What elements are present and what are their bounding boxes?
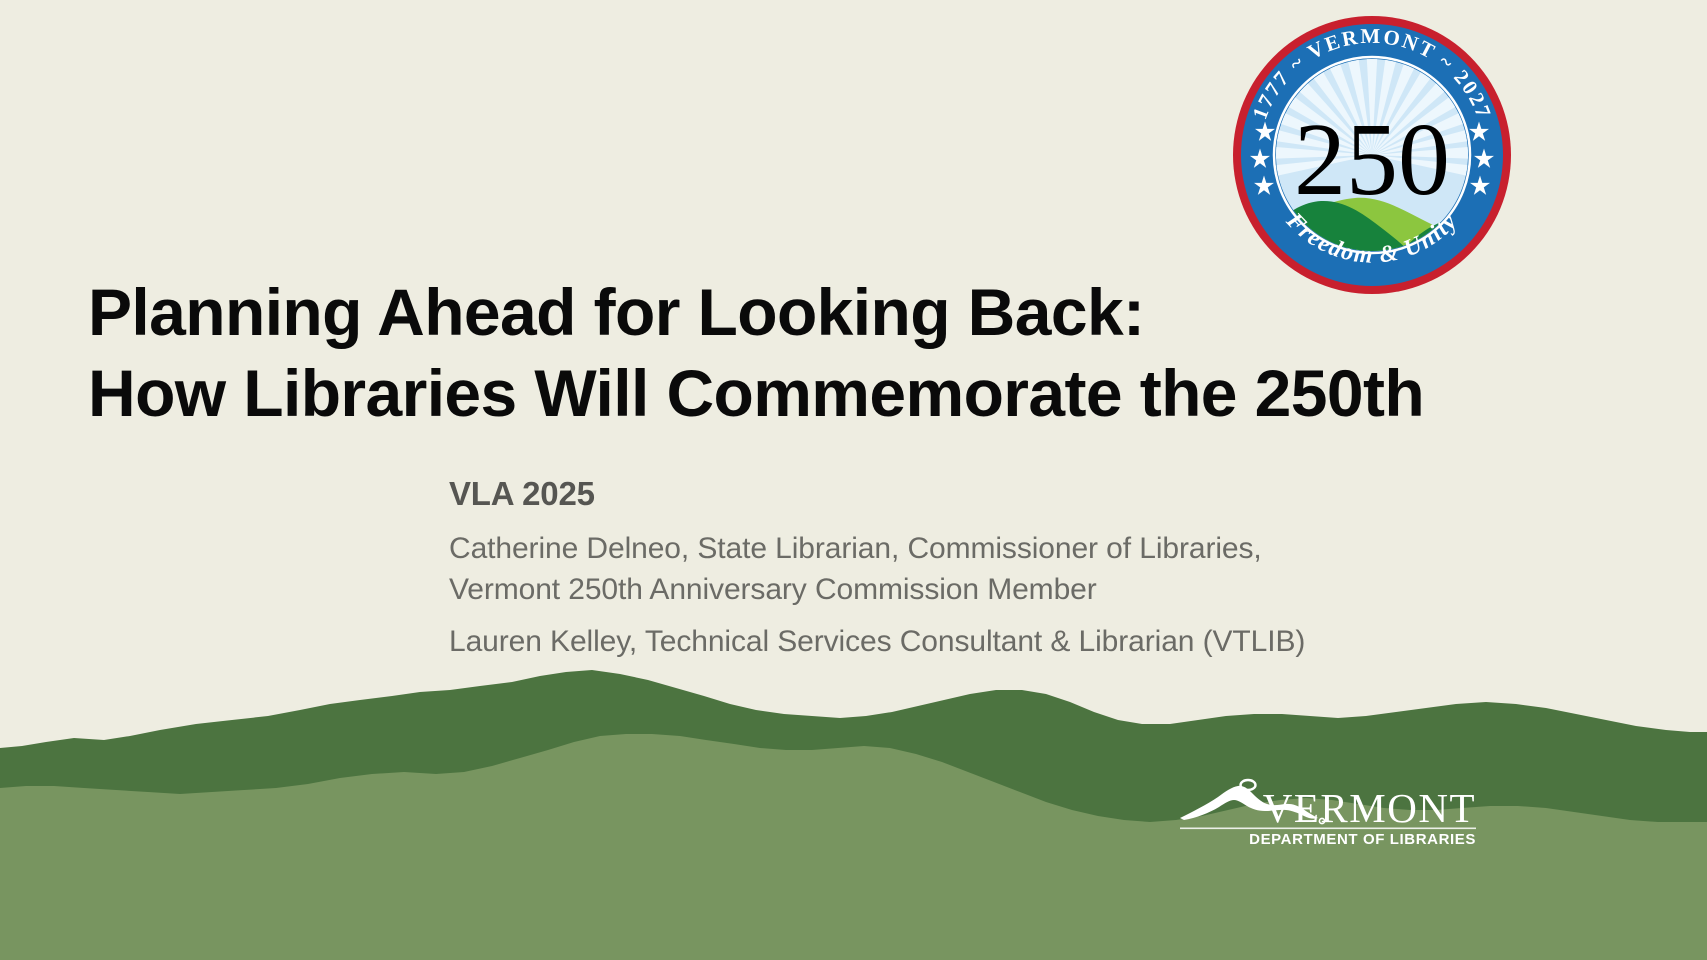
presenter-lauren-kelley: Lauren Kelley, Technical Services Consul… [449,621,1509,662]
subtitle-block: VLA 2025 Catherine Delneo, State Librari… [449,472,1509,662]
title-line-2: How Libraries Will Commemorate the 250th [88,353,1508,434]
presenter-line-1: Catherine Delneo, State Librarian, Commi… [449,532,1262,565]
vermont-250-seal-icon: 250 1777 ~ VERMONT ~ 2027 Freedom & Unit… [1231,14,1513,296]
presenter-line-2: Vermont 250th Anniversary Commission Mem… [449,573,1097,606]
seal-numeral-250: 250 [1294,102,1450,217]
presenter-catherine-delneo: Catherine Delneo, State Librarian, Commi… [449,528,1509,610]
vtlib-logo: VERMONT DEPARTMENT OF LIBRARIES [1178,778,1478,850]
logo-subline: DEPARTMENT OF LIBRARIES [1249,831,1476,848]
slide-canvas: Planning Ahead for Looking Back: How Lib… [0,0,1707,960]
logo-wordmark: VERMONT [1263,785,1476,831]
event-name: VLA 2025 [449,472,1509,516]
page-title: Planning Ahead for Looking Back: How Lib… [88,272,1508,434]
